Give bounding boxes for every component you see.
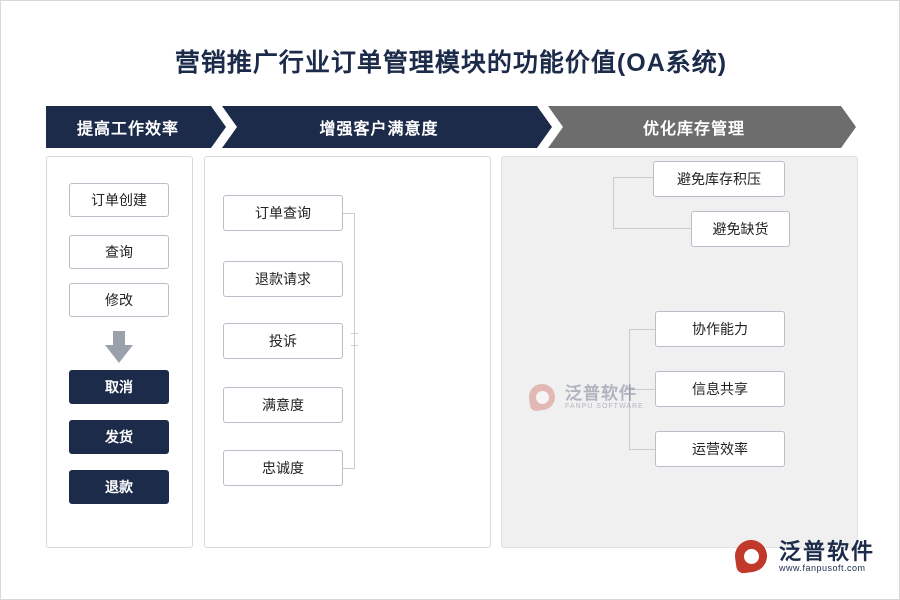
node-operation-efficiency: 运营效率 (655, 431, 785, 467)
connector-line (354, 213, 355, 468)
banner-improve-efficiency: 提高工作效率 (46, 106, 226, 148)
connector-tick (351, 345, 358, 346)
banner-inventory-management: 优化库存管理 (548, 106, 856, 148)
connector-line (343, 468, 355, 469)
banner-customer-satisfaction: 增强客户满意度 (222, 106, 552, 148)
node-satisfaction: 满意度 (223, 387, 343, 423)
node-order-modify: 修改 (69, 283, 169, 317)
connector-line (629, 449, 655, 450)
node-avoid-overstock: 避免库存积压 (653, 161, 785, 197)
node-order-create: 订单创建 (69, 183, 169, 217)
connector-tick (351, 333, 358, 334)
connector-line (613, 228, 691, 229)
connector-line (613, 177, 653, 178)
node-order-refund: 退款 (69, 470, 169, 504)
node-order-query: 查询 (69, 235, 169, 269)
connector-line (629, 329, 655, 330)
node-order-ship: 发货 (69, 420, 169, 454)
banner-row: 提高工作效率 增强客户满意度 优化库存管理 (46, 106, 856, 148)
banner-label: 优化库存管理 (643, 115, 745, 139)
banner-label: 增强客户满意度 (319, 115, 438, 139)
node-collaboration: 协作能力 (655, 311, 785, 347)
node-order-cancel: 取消 (69, 370, 169, 404)
banner-label: 提高工作效率 (77, 115, 179, 139)
watermark-cn: 泛普软件 (565, 385, 644, 403)
fanpu-logo-icon (525, 381, 559, 415)
page-title: 营销推广行业订单管理模块的功能价值(OA系统) (1, 43, 900, 79)
logo-cn: 泛普软件 (779, 540, 875, 564)
connector-line (613, 177, 614, 229)
column-inventory (501, 156, 858, 548)
logo-url: www.fanpusoft.com (779, 564, 875, 574)
watermark-en: FANPU SOFTWARE (565, 403, 644, 410)
node-refund-request: 退款请求 (223, 261, 343, 297)
node-order-lookup: 订单查询 (223, 195, 343, 231)
node-avoid-stockout: 避免缺货 (691, 211, 790, 247)
node-loyalty: 忠诚度 (223, 450, 343, 486)
brand-logo: 泛普软件 www.fanpusoft.com (731, 537, 875, 577)
arrow-down-icon (105, 331, 133, 363)
node-complaint: 投诉 (223, 323, 343, 359)
watermark: 泛普软件 FANPU SOFTWARE (525, 381, 644, 415)
node-info-sharing: 信息共享 (655, 371, 785, 407)
fanpu-logo-icon (731, 537, 771, 577)
